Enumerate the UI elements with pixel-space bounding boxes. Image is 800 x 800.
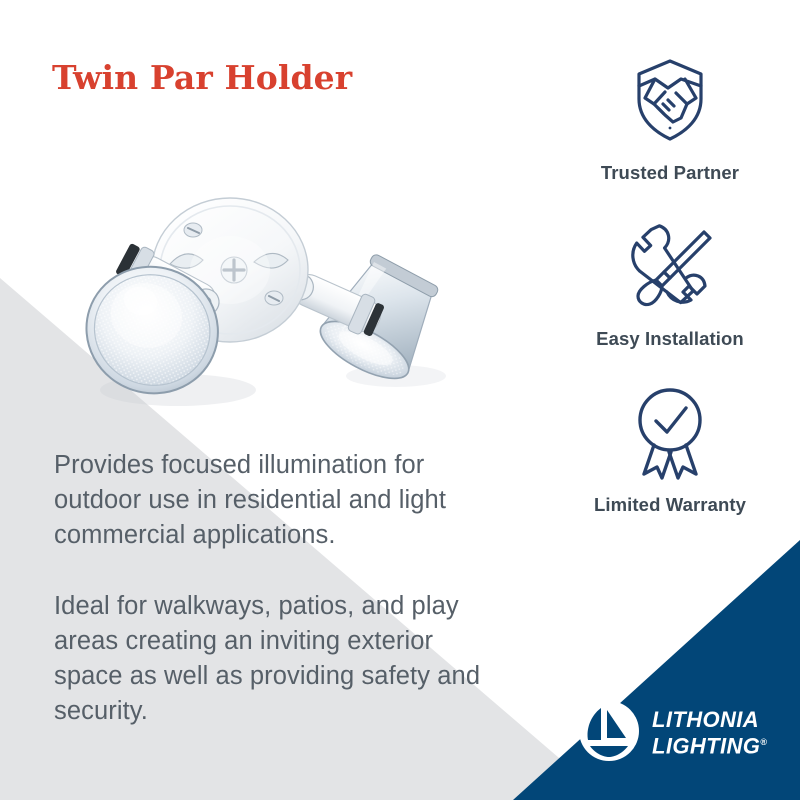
wrench-screwdriver-icon bbox=[624, 218, 716, 314]
page-title: Twin Par Holder bbox=[52, 58, 352, 97]
logo-line-1: LITHONIA bbox=[652, 707, 759, 732]
product-image bbox=[58, 178, 488, 413]
feature-label-limited-warranty: Limited Warranty bbox=[594, 493, 746, 516]
registered-trademark-symbol: ® bbox=[760, 737, 767, 747]
feature-trusted-partner: Trusted Partner bbox=[548, 52, 792, 184]
infographic-page: Twin Par Holder bbox=[0, 0, 800, 800]
body-copy: Provides focused illumination for outdoo… bbox=[54, 448, 506, 729]
feature-label-easy-installation: Easy Installation bbox=[596, 327, 744, 350]
body-paragraph-2: Ideal for walkways, patios, and play are… bbox=[54, 589, 506, 729]
lithonia-lighting-logo: LITHONIA LIGHTING® bbox=[578, 700, 767, 767]
lithonia-lighting-wordmark: LITHONIA LIGHTING® bbox=[652, 709, 767, 757]
feature-easy-installation: Easy Installation bbox=[548, 218, 792, 350]
handshake-shield-icon bbox=[624, 52, 716, 148]
feature-label-trusted-partner: Trusted Partner bbox=[601, 161, 739, 184]
feature-list: Trusted Partner Easy Installation bbox=[548, 52, 792, 516]
body-paragraph-1: Provides focused illumination for outdoo… bbox=[54, 448, 506, 553]
logo-line-2: LIGHTING bbox=[652, 734, 760, 759]
lithonia-sail-l-icon bbox=[578, 700, 640, 767]
award-ribbon-check-icon bbox=[624, 384, 716, 480]
feature-limited-warranty: Limited Warranty bbox=[548, 384, 792, 516]
